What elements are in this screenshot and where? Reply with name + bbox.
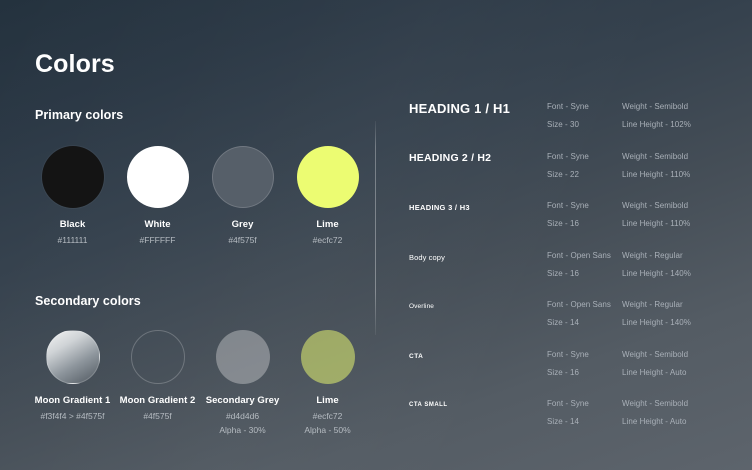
typography-size: Size - 16 xyxy=(547,269,579,278)
typography-sample: HEADING 2 / H2 xyxy=(409,152,491,164)
color-swatch-alpha: Alpha - 50% xyxy=(304,425,350,435)
color-swatch-cell[interactable]: Moon Gradient 1#f3f4f4 > #4f575f xyxy=(30,330,115,435)
color-swatch-disc[interactable] xyxy=(216,330,270,384)
color-swatch-cell[interactable]: Lime#ecfc72 xyxy=(285,146,370,245)
typography-line-height: Line Height - 110% xyxy=(622,170,690,179)
color-swatch-cell[interactable]: White#FFFFFF xyxy=(115,146,200,245)
typography-weight: Weight - Semibold xyxy=(622,102,688,111)
color-swatch-disc[interactable] xyxy=(127,146,189,208)
color-swatch-name: Black xyxy=(60,219,86,230)
color-swatch-name: Secondary Grey xyxy=(206,395,280,406)
typography-font: Font - Syne xyxy=(547,152,589,161)
page-title-colors: Colors xyxy=(35,50,115,79)
color-swatch-cell[interactable]: Lime#ecfc72Alpha - 50% xyxy=(285,330,370,435)
colors-panel: Colors Primary colors Black#111111White#… xyxy=(0,0,376,470)
typography-weight: Weight - Semibold xyxy=(622,350,688,359)
typography-row: CTA SMALLFont - SyneWeight - SemiboldSiz… xyxy=(409,398,752,444)
color-swatch-hex: #ecfc72 xyxy=(313,411,343,421)
color-swatch-cell[interactable]: Grey#4f575f xyxy=(200,146,285,245)
color-swatch-disc[interactable] xyxy=(131,330,185,384)
secondary-colors-row: Moon Gradient 1#f3f4f4 > #4f575fMoon Gra… xyxy=(30,330,370,435)
color-swatch-hex: #FFFFFF xyxy=(140,235,176,245)
typography-sample: HEADING 1 / H1 xyxy=(409,101,510,116)
typography-line-height: Line Height - 140% xyxy=(622,269,691,278)
color-swatch-disc[interactable] xyxy=(46,330,100,384)
primary-colors-label: Primary colors xyxy=(35,108,123,122)
typography-font: Font - Syne xyxy=(547,201,589,210)
color-swatch-disc[interactable] xyxy=(301,330,355,384)
typography-font: Font - Open Sans xyxy=(547,300,611,309)
typography-row: HEADING 3 / H3Font - SyneWeight - Semibo… xyxy=(409,200,752,246)
typography-font: Font - Open Sans xyxy=(547,251,611,260)
typography-size: Size - 22 xyxy=(547,170,579,179)
typography-sample: CTA xyxy=(409,353,423,360)
typography-line-height: Line Height - 110% xyxy=(622,219,690,228)
typography-panel: Typography HEADING 1 / H1Font - SyneWeig… xyxy=(376,0,752,470)
typography-row: Body copyFont - Open SansWeight - Regula… xyxy=(409,250,752,296)
typography-line-height: Line Height - 140% xyxy=(622,318,691,327)
color-swatch-disc[interactable] xyxy=(42,146,104,208)
typography-sample: Overline xyxy=(409,303,434,310)
typography-row: OverlineFont - Open SansWeight - Regular… xyxy=(409,299,752,345)
primary-colors-row: Black#111111White#FFFFFFGrey#4f575fLime#… xyxy=(30,146,370,245)
typography-sample: HEADING 3 / H3 xyxy=(409,203,470,212)
color-swatch-cell[interactable]: Black#111111 xyxy=(30,146,115,245)
typography-size: Size - 14 xyxy=(547,318,579,327)
typography-size: Size - 30 xyxy=(547,120,579,129)
typography-weight: Weight - Semibold xyxy=(622,201,688,210)
color-swatch-name: Lime xyxy=(316,219,338,230)
typography-size: Size - 16 xyxy=(547,219,579,228)
typography-font: Font - Syne xyxy=(547,399,589,408)
typography-size: Size - 16 xyxy=(547,368,579,377)
color-swatch-disc[interactable] xyxy=(297,146,359,208)
color-swatch-hex: #111111 xyxy=(58,235,88,245)
typography-line-height: Line Height - 102% xyxy=(622,120,691,129)
typography-font: Font - Syne xyxy=(547,350,589,359)
color-swatch-disc[interactable] xyxy=(212,146,274,208)
typography-weight: Weight - Semibold xyxy=(622,152,688,161)
typography-row: CTAFont - SyneWeight - SemiboldSize - 16… xyxy=(409,349,752,395)
color-swatch-hex: #f3f4f4 > #4f575f xyxy=(40,411,104,421)
color-swatch-cell[interactable]: Secondary Grey#d4d4d6Alpha - 30% xyxy=(200,330,285,435)
typography-sample: Body copy xyxy=(409,253,445,262)
typography-row: HEADING 1 / H1Font - SyneWeight - Semibo… xyxy=(409,101,752,147)
color-swatch-hex: #ecfc72 xyxy=(313,235,343,245)
typography-line-height: Line Height - Auto xyxy=(622,368,687,377)
typography-font: Font - Syne xyxy=(547,102,589,111)
color-swatch-name: White xyxy=(144,219,170,230)
secondary-colors-label: Secondary colors xyxy=(35,294,141,308)
color-swatch-hex: #4f575f xyxy=(143,411,171,421)
color-swatch-hex: #d4d4d6 xyxy=(226,411,259,421)
typography-weight: Weight - Semibold xyxy=(622,399,688,408)
color-swatch-name: Moon Gradient 1 xyxy=(35,395,111,406)
color-swatch-name: Grey xyxy=(232,219,254,230)
color-swatch-name: Moon Gradient 2 xyxy=(120,395,196,406)
typography-size: Size - 14 xyxy=(547,417,579,426)
color-swatch-alpha: Alpha - 30% xyxy=(219,425,265,435)
typography-sample: CTA SMALL xyxy=(409,402,448,408)
color-swatch-name: Lime xyxy=(316,395,338,406)
typography-line-height: Line Height - Auto xyxy=(622,417,687,426)
style-guide-page: Colors Primary colors Black#111111White#… xyxy=(0,0,752,470)
color-swatch-hex: #4f575f xyxy=(228,235,256,245)
typography-weight: Weight - Regular xyxy=(622,300,683,309)
color-swatch-cell[interactable]: Moon Gradient 2#4f575f xyxy=(115,330,200,435)
typography-weight: Weight - Regular xyxy=(622,251,683,260)
typography-row: HEADING 2 / H2Font - SyneWeight - Semibo… xyxy=(409,151,752,197)
